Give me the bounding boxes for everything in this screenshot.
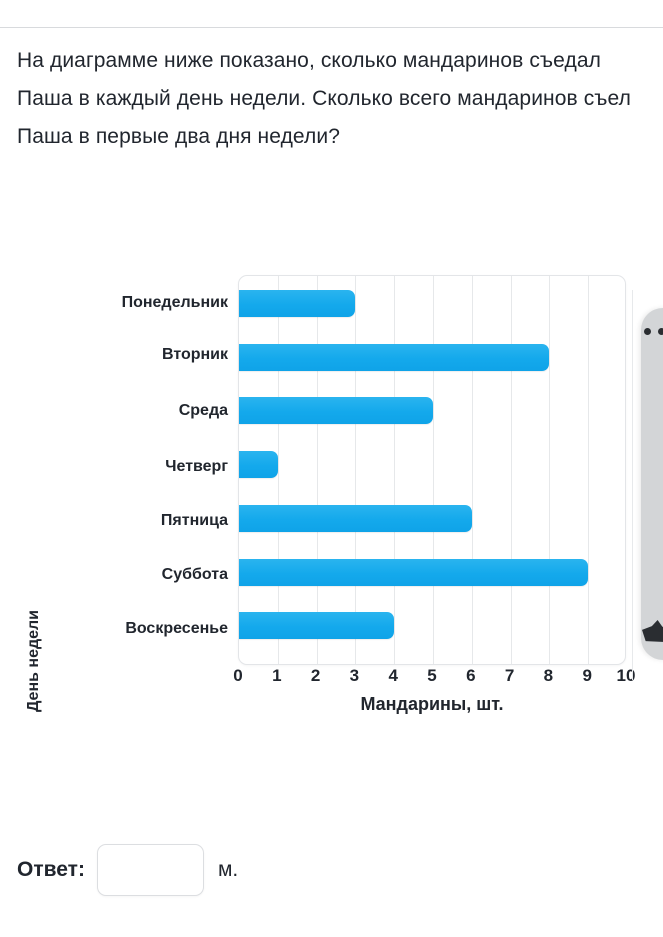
bar (239, 612, 394, 639)
category-label: Четверг (165, 453, 228, 480)
answer-row: Ответ: м. (17, 843, 238, 897)
answer-unit: м. (218, 858, 238, 882)
x-tick-label: 1 (272, 666, 281, 686)
x-tick-label: 7 (505, 666, 514, 686)
gridline (394, 276, 395, 664)
x-tick-label: 0 (233, 666, 242, 686)
y-axis-title: День недели (25, 606, 43, 716)
category-label: Суббота (162, 561, 228, 588)
category-label-column: Понедельник Вторник Среда Четверг Пятниц… (60, 289, 232, 657)
gridline (278, 276, 279, 664)
gridline (511, 276, 512, 664)
category-label: Воскресенье (125, 615, 228, 642)
bar (239, 559, 588, 586)
side-panel[interactable] (641, 308, 663, 660)
x-tick-label: 4 (388, 666, 397, 686)
category-label: Вторник (162, 341, 228, 368)
bar (239, 451, 278, 478)
bar (239, 505, 472, 532)
x-tick-label: 3 (350, 666, 359, 686)
bar (239, 290, 355, 317)
answer-label: Ответ: (17, 858, 85, 882)
x-tick-label: 2 (311, 666, 320, 686)
bar (239, 344, 549, 371)
x-tick-label: 8 (544, 666, 553, 686)
cut-off-glyph-icon (642, 620, 663, 642)
question-text: На диаграмме ниже показано, сколько манд… (17, 42, 653, 156)
gridline (472, 276, 473, 664)
answer-input[interactable] (97, 844, 204, 896)
x-axis-ticks: 012345678910 (238, 666, 626, 692)
x-axis-title: Мандарины, шт. (238, 694, 626, 715)
top-divider (0, 27, 663, 28)
gridline (549, 276, 550, 664)
gridline (355, 276, 356, 664)
bar-chart: День недели Понедельник Вторник Среда Че… (0, 262, 663, 727)
gridline (433, 276, 434, 664)
category-label: Понедельник (122, 289, 228, 316)
more-dots-icon[interactable] (644, 328, 663, 335)
x-tick-label: 5 (427, 666, 436, 686)
plot-area (238, 275, 626, 665)
bar (239, 397, 433, 424)
gridline (317, 276, 318, 664)
side-panel-edge (632, 290, 633, 680)
gridline (588, 276, 589, 664)
x-tick-label: 9 (582, 666, 591, 686)
x-tick-label: 6 (466, 666, 475, 686)
category-label: Пятница (161, 507, 228, 534)
category-label: Среда (179, 397, 228, 424)
